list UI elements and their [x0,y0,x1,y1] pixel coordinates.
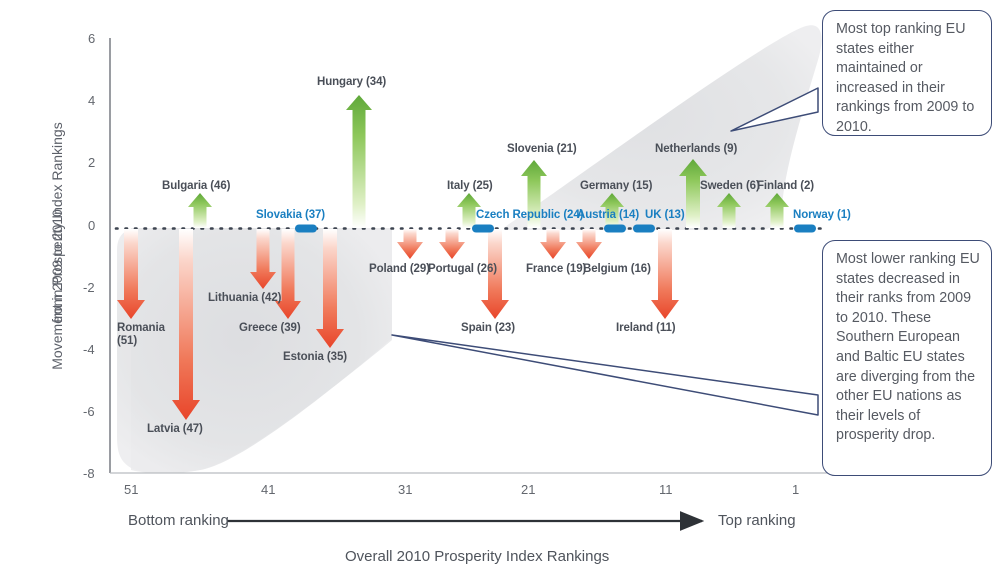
y-tick-4: -2 [83,280,95,295]
marker-flat-austria [604,225,626,233]
y-tick-5: -4 [83,342,95,357]
point-label-netherlands: Netherlands (9) [655,143,737,156]
point-label-belgium: Belgium (16) [583,263,651,276]
marker-flat-norway [794,225,816,233]
point-label-latvia: Latvia (47) [147,423,203,436]
point-label-austria: Austria (14) [577,209,639,222]
point-label-hungary: Hungary (34) [317,76,386,89]
point-label-italy: Italy (25) [447,180,493,193]
point-label-czech-republic: Czech Republic (24) [476,209,583,222]
y-tick-0: 6 [88,31,95,46]
point-label-germany: Germany (15) [580,180,652,193]
x-tick-0: 51 [124,482,138,497]
arrow-down-poland [397,229,423,259]
arrow-down-portugal [439,229,465,259]
x-axis-left-note: Bottom ranking [128,512,229,529]
y-tick-7: -8 [83,466,95,481]
x-axis-title: Overall 2010 Prosperity Index Rankings [345,548,609,565]
point-label-greece: Greece (39) [239,322,301,335]
marker-flat-czech-republic [472,225,494,233]
chart-canvas: 6 4 2 0 -2 -4 -6 -8 51 41 31 21 11 1 Mov… [0,0,1000,571]
x-tick-4: 11 [659,482,673,497]
x-tick-2: 31 [398,482,412,497]
callout-bottom: Most lower ranking EU states decreased i… [822,240,992,476]
y-tick-6: -6 [83,404,95,419]
arrow-up-hungary [346,95,372,228]
point-label-finland: Finland (2) [757,180,814,193]
y-axis-title-line2: from 2009 to 2010 [49,146,65,386]
x-tick-5: 1 [792,482,799,497]
x-tick-3: 21 [521,482,535,497]
arrow-down-ireland [651,229,679,319]
y-tick-2: 2 [88,155,95,170]
x-axis-right-note: Top ranking [718,512,796,529]
point-label-norway: Norway (1) [793,209,851,222]
point-label-poland: Poland (29) [369,263,430,276]
marker-flat-uk [633,225,655,233]
arrow-up-bulgaria [188,193,212,228]
point-label-romania: Romania (51) [117,322,177,347]
point-label-france: France (19) [526,263,586,276]
y-tick-1: 4 [88,93,95,108]
arrow-down-france [540,229,566,259]
point-label-bulgaria: Bulgaria (46) [162,180,230,193]
point-label-lithuania: Lithuania (42) [208,292,281,305]
background-blob-lower [117,228,392,474]
x-tick-1: 41 [261,482,275,497]
point-label-slovakia: Slovakia (37) [256,209,325,222]
point-label-uk: UK (13) [645,209,685,222]
point-label-ireland: Ireland (11) [616,322,676,335]
callout-top: Most top ranking EU states either mainta… [822,10,992,136]
arrow-down-belgium [576,229,602,259]
marker-flat-slovakia [295,225,317,233]
point-label-spain: Spain (23) [461,322,515,335]
point-label-sweden: Sweden (6) [700,180,760,193]
y-tick-3: 0 [88,218,95,233]
callout-connector-bottom [392,335,818,415]
point-label-slovenia: Slovenia (21) [507,143,577,156]
point-label-portugal: Portugal (26) [428,263,497,276]
point-label-estonia: Estonia (35) [283,351,347,364]
